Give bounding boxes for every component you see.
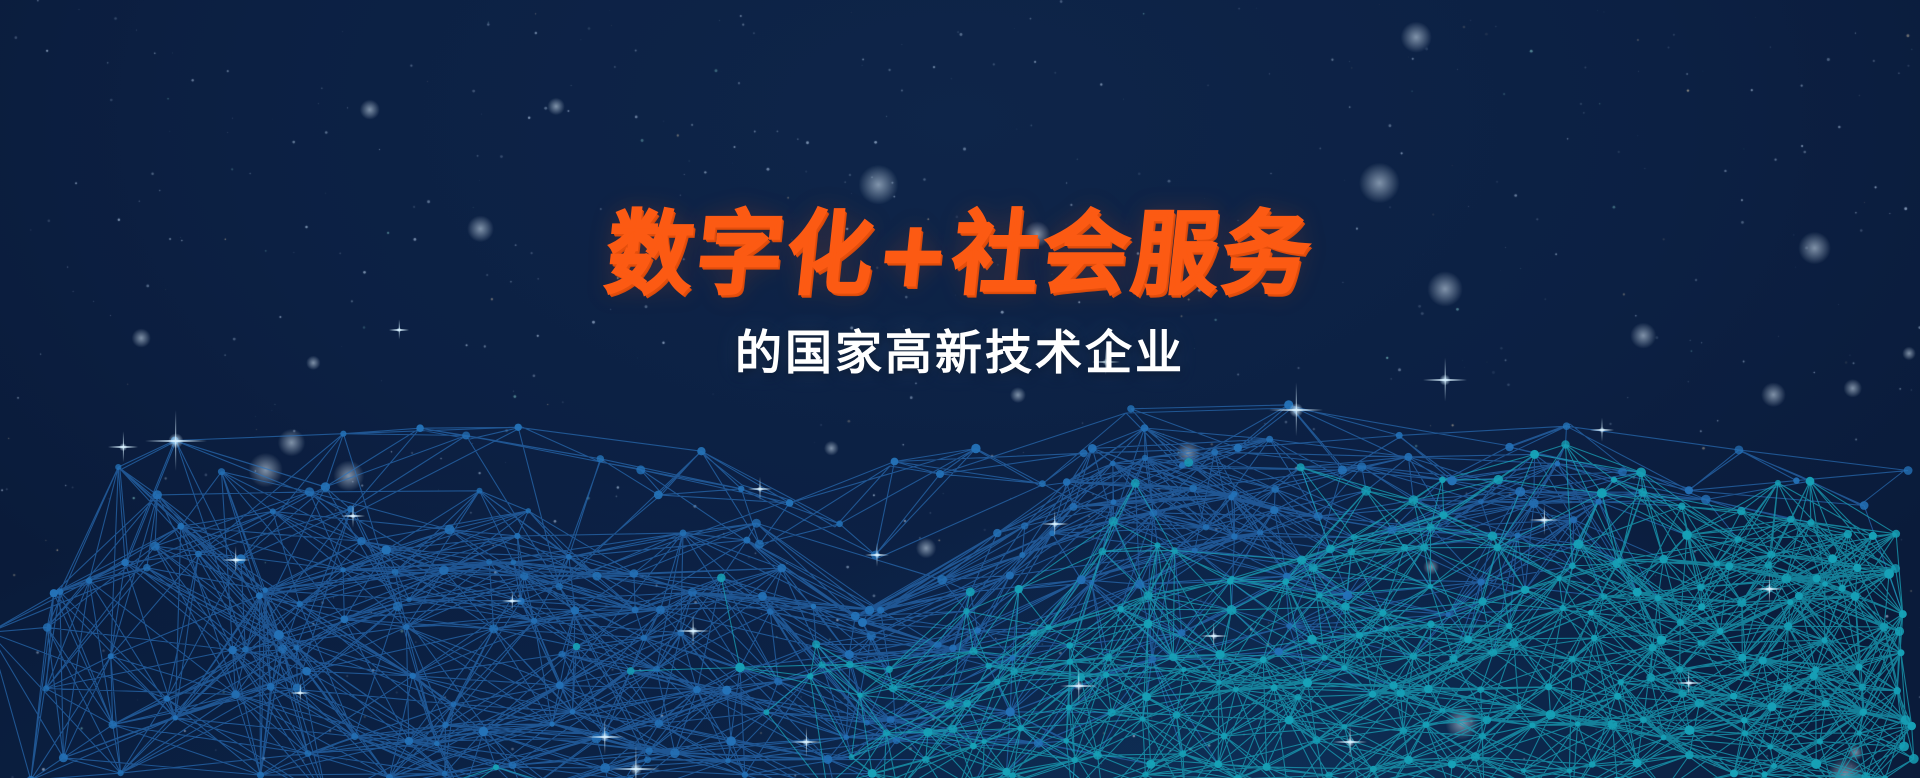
sparkle-stars xyxy=(0,0,1920,778)
page-title: 数字化+社会服务 xyxy=(0,209,1920,300)
page-subtitle: 的国家高新技术企业 xyxy=(0,314,1920,383)
hero-banner: 数字化+社会服务 的国家高新技术企业 xyxy=(0,0,1920,778)
hero-text-block: 数字化+社会服务 的国家高新技术企业 xyxy=(0,212,1920,383)
